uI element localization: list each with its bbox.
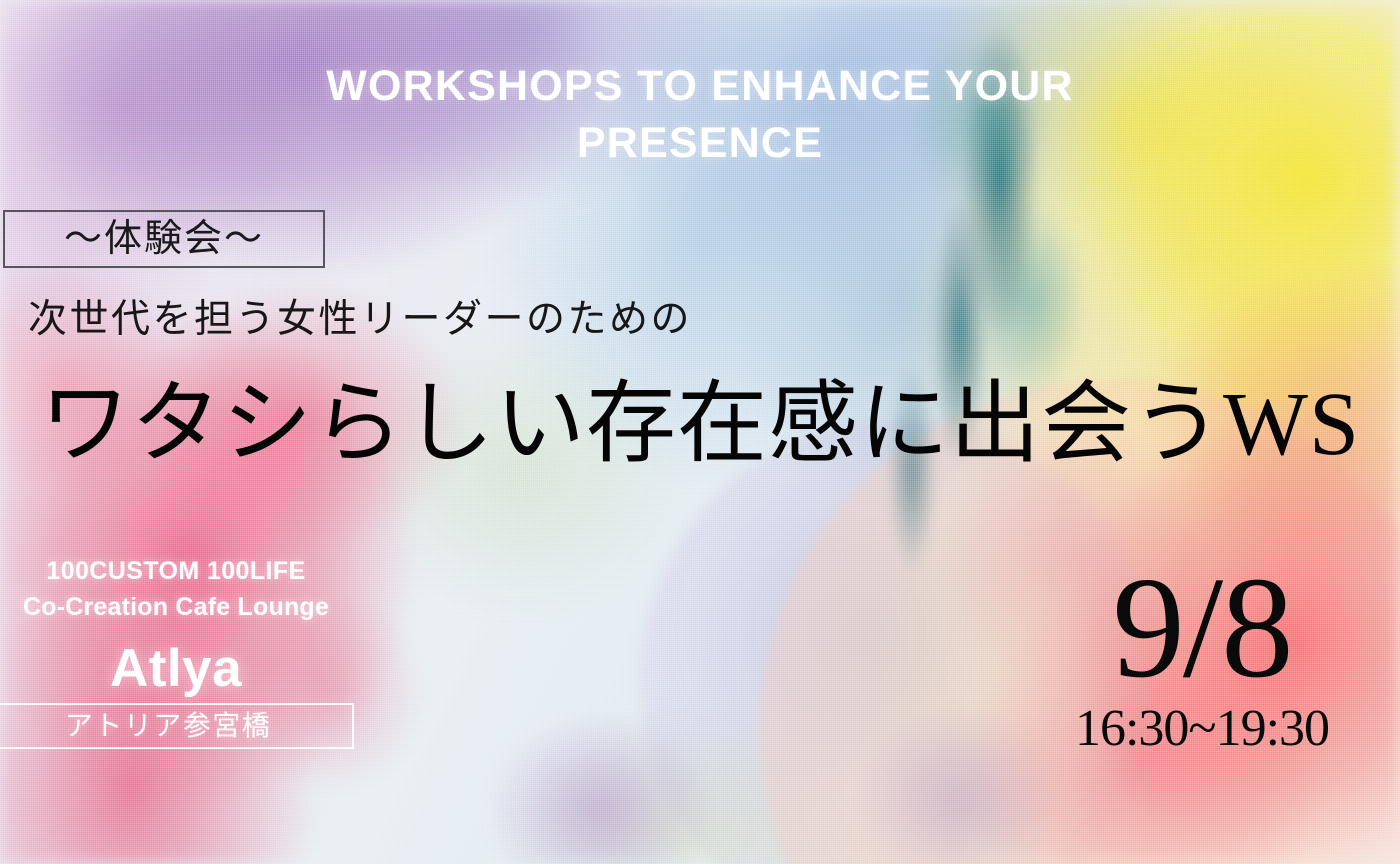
venue-block: 100CUSTOM 100LIFE Co-Creation Cafe Loung…	[0, 556, 352, 695]
trial-session-badge: 〜体験会〜	[3, 210, 325, 268]
event-time-range: 16:30~19:30	[1052, 703, 1352, 755]
schedule-block: 9/8 16:30~19:30	[1052, 562, 1352, 755]
poster-canvas: WORKSHOPS TO ENHANCE YOUR PRESENCE 〜体験会〜…	[0, 0, 1400, 864]
venue-tagline-line1: 100CUSTOM 100LIFE	[0, 556, 352, 587]
poster-content: WORKSHOPS TO ENHANCE YOUR PRESENCE 〜体験会〜…	[0, 0, 1400, 864]
venue-brand-wordmark: Atlya	[0, 642, 352, 695]
event-date: 9/8	[1052, 562, 1352, 695]
main-title: ワタシらしい存在感に出会うWS	[40, 378, 1360, 473]
venue-name-label: アトリア参宮橋	[65, 712, 272, 740]
venue-tagline-line2: Co-Creation Cafe Lounge	[0, 591, 352, 624]
venue-name-box: アトリア参宮橋	[0, 703, 354, 749]
trial-session-badge-label: 〜体験会〜	[64, 220, 264, 258]
english-heading: WORKSHOPS TO ENHANCE YOUR PRESENCE	[0, 58, 1400, 172]
subtitle-text: 次世代を担う女性リーダーのための	[28, 288, 692, 344]
